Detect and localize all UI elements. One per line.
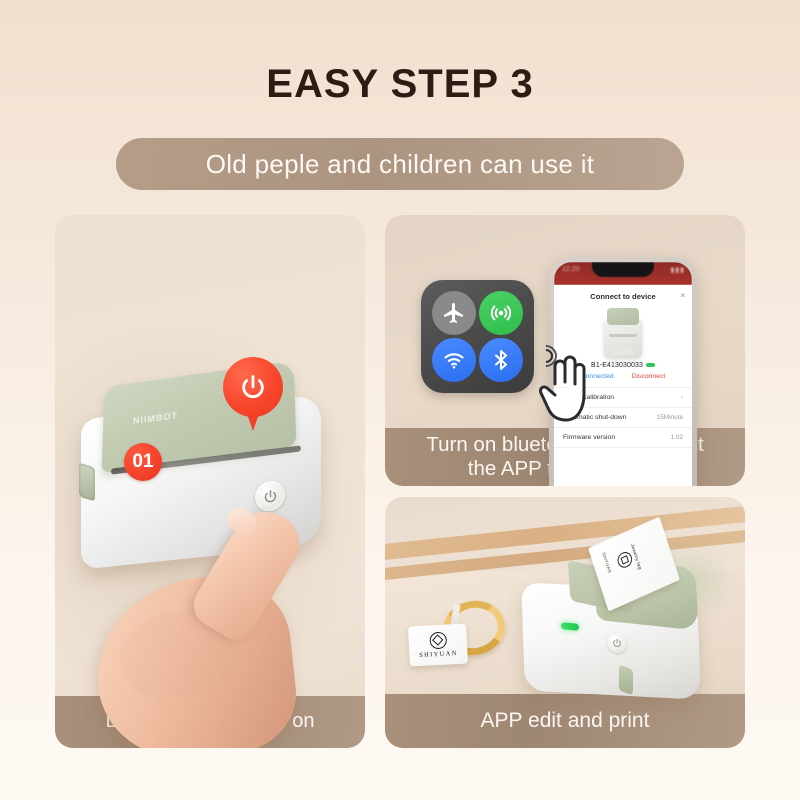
power-pin-marker [223, 357, 283, 435]
label-printer-device: SHIYUAN Jewelry tag [511, 539, 717, 705]
printer-side-button [79, 462, 95, 501]
tag-text: SHIYUAN [419, 650, 458, 659]
printed-label-brand: SHIYUAN [601, 551, 612, 574]
page-title: EASY STEP 3 [0, 62, 800, 107]
row-label: Firmware version [563, 434, 615, 441]
phone-notch [592, 262, 654, 277]
list-item[interactable]: Firmware version 1.02 [554, 428, 692, 448]
status-led [561, 622, 579, 631]
device-slot [609, 334, 637, 337]
hand-pressing-button [103, 515, 323, 748]
phone-status-bar: 12:25 ▮▮▮ [554, 262, 692, 285]
power-icon [223, 357, 283, 417]
step-card-02[interactable]: 12:25 ▮▮▮ Connect to device × [385, 215, 745, 486]
step-badge-01: 01 [124, 443, 162, 481]
subtitle-banner: Old peple and children can use it [116, 138, 684, 190]
battery-indicator-icon [646, 363, 655, 367]
printer-side-button [619, 665, 633, 696]
row-value: 15Minute [657, 414, 683, 421]
label-logo-icon [616, 550, 634, 570]
disconnect-button[interactable]: Disconnect [632, 373, 666, 380]
subtitle-text: Old peple and children can use it [206, 149, 595, 180]
status-icons: ▮▮▮ [670, 266, 685, 274]
step-card-01[interactable]: NIIMBOT [55, 215, 365, 748]
device-foot [613, 348, 633, 355]
chevron-right-icon: › [681, 394, 683, 401]
device-lid [607, 308, 639, 325]
tag-logo-icon [429, 632, 447, 650]
close-icon[interactable]: × [680, 291, 685, 300]
wifi-icon[interactable] [432, 338, 476, 382]
status-time: 12:25 [562, 266, 580, 273]
hand-cursor-icon [535, 354, 597, 428]
airplane-mode-icon[interactable] [432, 291, 476, 335]
row-value: 1.02 [671, 434, 683, 441]
sheet-title: Connect to device [554, 285, 692, 304]
step-01-photo: NIIMBOT [55, 215, 365, 748]
jewelry-tag: SHIYUAN [408, 624, 468, 667]
promo-page: EASY STEP 3 Old peple and children can u… [0, 0, 800, 800]
bluetooth-icon[interactable] [479, 338, 523, 382]
control-center-widget[interactable] [421, 280, 534, 393]
step-card-03[interactable]: SHIYUAN Jewelry tag SHIYUAN 03 APP edit … [385, 497, 745, 748]
device-id-text: B1-E413030033 [591, 362, 643, 369]
cellular-data-icon[interactable] [479, 291, 523, 335]
device-thumbnail [600, 306, 646, 358]
step-03-caption-text: APP edit and print [481, 709, 650, 734]
